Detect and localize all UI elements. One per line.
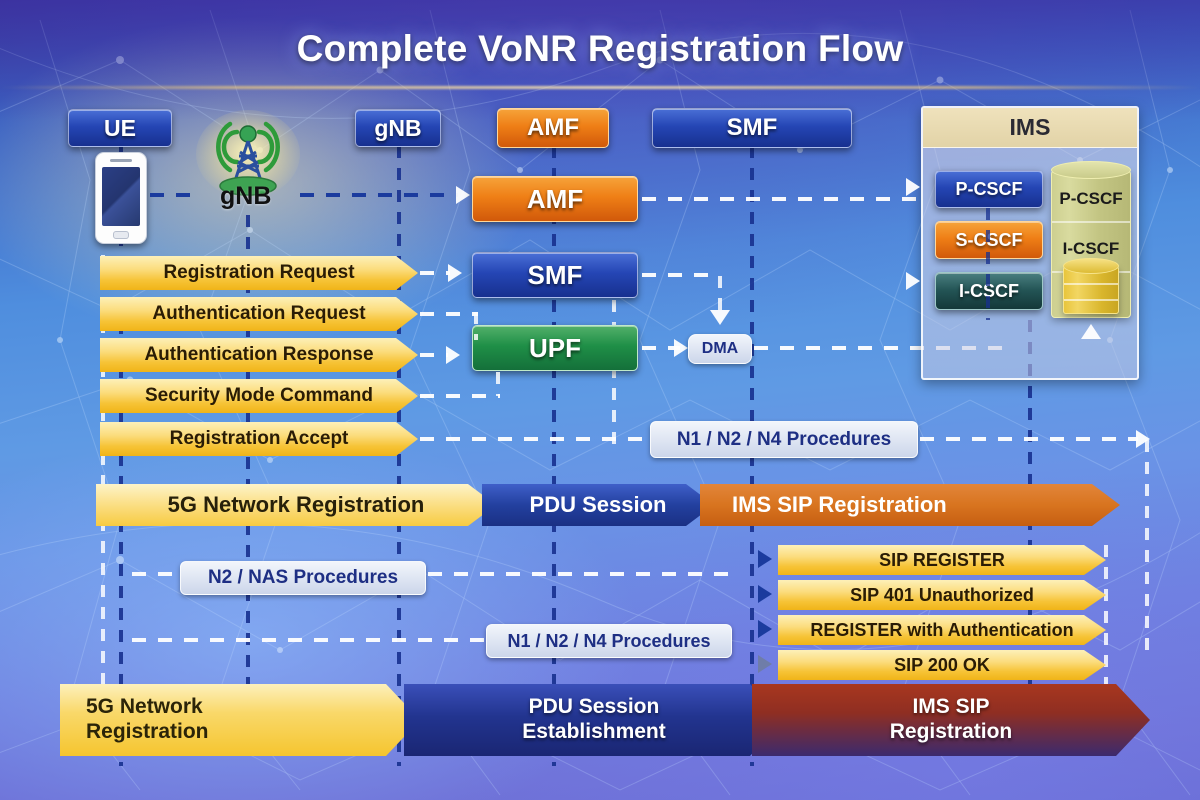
nas-message-label: Authentication Response bbox=[144, 344, 373, 366]
diagram-canvas: Complete VoNR Registration Flow UE gNB A… bbox=[0, 0, 1200, 800]
banner-line-2: Establishment bbox=[522, 720, 666, 743]
arrowhead-into-p-cscf bbox=[906, 178, 920, 196]
database-band-1 bbox=[1052, 221, 1130, 223]
phase-band-ims-sip-registration[interactable]: IMS SIP Registration bbox=[700, 484, 1120, 526]
phone-home-button bbox=[113, 231, 129, 239]
node-amf-label: AMF bbox=[527, 184, 583, 215]
ims-node-p-cscf[interactable]: P-CSCF bbox=[935, 170, 1043, 208]
procedure-label-text: N2 / NAS Procedures bbox=[208, 567, 398, 589]
sip-message-401-unauthorized[interactable]: SIP 401 Unauthorized bbox=[778, 580, 1106, 610]
connector-security-mode-up bbox=[496, 372, 500, 396]
arrowhead-upf-to-dma bbox=[674, 339, 688, 357]
actor-header-smf[interactable]: SMF bbox=[652, 108, 852, 148]
node-smf-label: SMF bbox=[528, 260, 583, 291]
sip-message-register-with-authentication[interactable]: REGISTER with Authentication bbox=[778, 615, 1106, 645]
connector-smf-down-segment bbox=[718, 276, 722, 312]
arrowhead-sip-200-ok bbox=[758, 655, 772, 673]
arrowhead-into-hss-database bbox=[1081, 324, 1101, 339]
phase-band-label: PDU Session bbox=[530, 492, 667, 518]
arrowhead-registration-request bbox=[448, 264, 462, 282]
nas-message-security-mode-command[interactable]: Security Mode Command bbox=[100, 379, 418, 413]
arrowhead-smf-down-to-dma bbox=[710, 310, 730, 325]
actor-header-amf[interactable]: AMF bbox=[497, 108, 609, 148]
database-label-i-cscf: I-CSCF bbox=[1052, 239, 1130, 259]
nas-message-label: Registration Request bbox=[163, 262, 354, 284]
dma-node[interactable]: DMA bbox=[688, 334, 752, 364]
node-upf[interactable]: UPF bbox=[472, 325, 638, 371]
node-amf[interactable]: AMF bbox=[472, 176, 638, 222]
connector-n2-nas-right bbox=[428, 572, 740, 576]
phone-screen bbox=[102, 167, 140, 226]
ims-panel-header: IMS bbox=[923, 108, 1137, 148]
procedure-label-text: N1 / N2 / N4 Procedures bbox=[677, 429, 891, 451]
phase-band-label: IMS SIP Registration bbox=[732, 492, 947, 518]
banner-line-1: PDU Session bbox=[529, 695, 660, 718]
lifeline-sip-guide bbox=[1104, 545, 1108, 690]
nas-message-label: Security Mode Command bbox=[145, 385, 373, 407]
ims-node-p-cscf-label: P-CSCF bbox=[956, 179, 1023, 200]
connector-n1n2n4-lower-left bbox=[132, 638, 490, 642]
nas-message-authentication-request[interactable]: Authentication Request bbox=[100, 297, 418, 331]
page-title: Complete VoNR Registration Flow bbox=[0, 28, 1200, 70]
connector-n1n2n4-upper-right bbox=[920, 437, 1138, 441]
connector-registration-accept bbox=[420, 437, 652, 441]
ims-internal-lifeline bbox=[986, 208, 990, 320]
ims-header-label: IMS bbox=[1010, 114, 1051, 141]
connector-gnb-to-amf bbox=[300, 193, 458, 197]
banner-phase-5g-network-registration[interactable]: 5G Network Registration bbox=[60, 684, 420, 756]
actor-header-ue[interactable]: UE bbox=[68, 109, 172, 147]
banner-line-1: IMS SIP bbox=[912, 695, 989, 718]
gnb-tower-label: gNB bbox=[220, 182, 271, 211]
procedure-label-text: N1 / N2 / N4 Procedures bbox=[507, 631, 710, 652]
ims-hss-database bbox=[1063, 266, 1119, 314]
connector-ue-to-gnb bbox=[150, 193, 198, 197]
hss-db-band-1 bbox=[1064, 283, 1118, 285]
sip-message-label: SIP 401 Unauthorized bbox=[850, 585, 1034, 606]
nas-message-registration-accept[interactable]: Registration Accept bbox=[100, 422, 418, 456]
sip-message-label: SIP REGISTER bbox=[879, 550, 1005, 571]
arrowhead-register-with-auth bbox=[758, 620, 772, 638]
procedure-label-n1-n2-n4-lower: N1 / N2 / N4 Procedures bbox=[486, 624, 732, 658]
nas-message-authentication-response[interactable]: Authentication Response bbox=[100, 338, 418, 372]
sip-message-label: REGISTER with Authentication bbox=[810, 620, 1073, 641]
actor-header-gnb-label: gNB bbox=[374, 115, 421, 142]
database-label-p-cscf: P-CSCF bbox=[1052, 189, 1130, 209]
sip-message-label: SIP 200 OK bbox=[894, 655, 990, 676]
arrowhead-sip-401 bbox=[758, 585, 772, 603]
lifeline-gnb bbox=[397, 146, 401, 766]
connector-registration-request bbox=[420, 271, 450, 275]
banner-phase-ims-sip-registration[interactable]: IMS SIP Registration bbox=[752, 684, 1150, 756]
phase-band-5g-registration[interactable]: 5G Network Registration bbox=[96, 484, 496, 526]
dma-label: DMA bbox=[702, 340, 738, 358]
nas-message-label: Registration Accept bbox=[170, 428, 349, 450]
sip-message-register[interactable]: SIP REGISTER bbox=[778, 545, 1106, 575]
actor-header-amf-label: AMF bbox=[527, 114, 579, 142]
banner-line-2: Registration bbox=[890, 720, 1013, 743]
lifeline-amf bbox=[552, 146, 556, 766]
banner-phase-text: 5G Network Registration bbox=[86, 695, 209, 745]
arrowhead-n1n2n4-upper bbox=[1136, 430, 1150, 448]
hss-db-band-2 bbox=[1064, 299, 1118, 301]
banner-phase-text: PDU Session Establishment bbox=[522, 695, 666, 745]
connector-authentication-request bbox=[420, 312, 478, 316]
banner-phase-pdu-session-establishment[interactable]: PDU Session Establishment bbox=[404, 684, 784, 756]
banner-phase-text: IMS SIP Registration bbox=[890, 695, 1013, 745]
ims-panel: IMS P-CSCF S-CSCF I-CSCF P-CSCF I-CSCF bbox=[921, 106, 1139, 380]
arrowhead-gnb-to-amf bbox=[456, 186, 470, 204]
nas-message-label: Authentication Request bbox=[152, 303, 365, 325]
lifeline-ims-right-guide bbox=[1145, 440, 1149, 660]
arrowhead-authentication-response bbox=[446, 346, 460, 364]
banner-line-1: 5G Network bbox=[86, 695, 203, 718]
connector-n2-nas-left bbox=[132, 572, 182, 576]
sip-message-200-ok[interactable]: SIP 200 OK bbox=[778, 650, 1106, 680]
phone-speaker bbox=[110, 159, 132, 162]
database-top-cap bbox=[1051, 161, 1131, 179]
connector-security-mode-command bbox=[420, 394, 500, 398]
node-smf[interactable]: SMF bbox=[472, 252, 638, 298]
lifeline-upf-guide bbox=[612, 300, 616, 450]
gold-divider-line bbox=[0, 86, 1200, 89]
phase-band-label: 5G Network Registration bbox=[168, 492, 425, 518]
actor-header-gnb[interactable]: gNB bbox=[355, 109, 441, 147]
phase-band-pdu-session[interactable]: PDU Session bbox=[482, 484, 714, 526]
node-upf-label: UPF bbox=[529, 333, 581, 364]
actor-header-smf-label: SMF bbox=[727, 114, 778, 142]
procedure-label-n2-nas: N2 / NAS Procedures bbox=[180, 561, 426, 595]
arrowhead-sip-register bbox=[758, 550, 772, 568]
actor-header-ue-label: UE bbox=[104, 115, 136, 142]
arrowhead-into-i-cscf bbox=[906, 272, 920, 290]
connector-smf-right bbox=[642, 273, 720, 277]
hss-db-top-cap bbox=[1063, 258, 1119, 274]
connector-authentication-response bbox=[420, 353, 448, 357]
connector-amf-to-ims bbox=[642, 197, 920, 201]
connector-auth-request-down bbox=[474, 312, 478, 340]
banner-line-2: Registration bbox=[86, 720, 209, 743]
nas-message-registration-request[interactable]: Registration Request bbox=[100, 256, 418, 290]
ue-phone-icon bbox=[95, 152, 147, 244]
procedure-label-n1-n2-n4-upper: N1 / N2 / N4 Procedures bbox=[650, 421, 918, 458]
